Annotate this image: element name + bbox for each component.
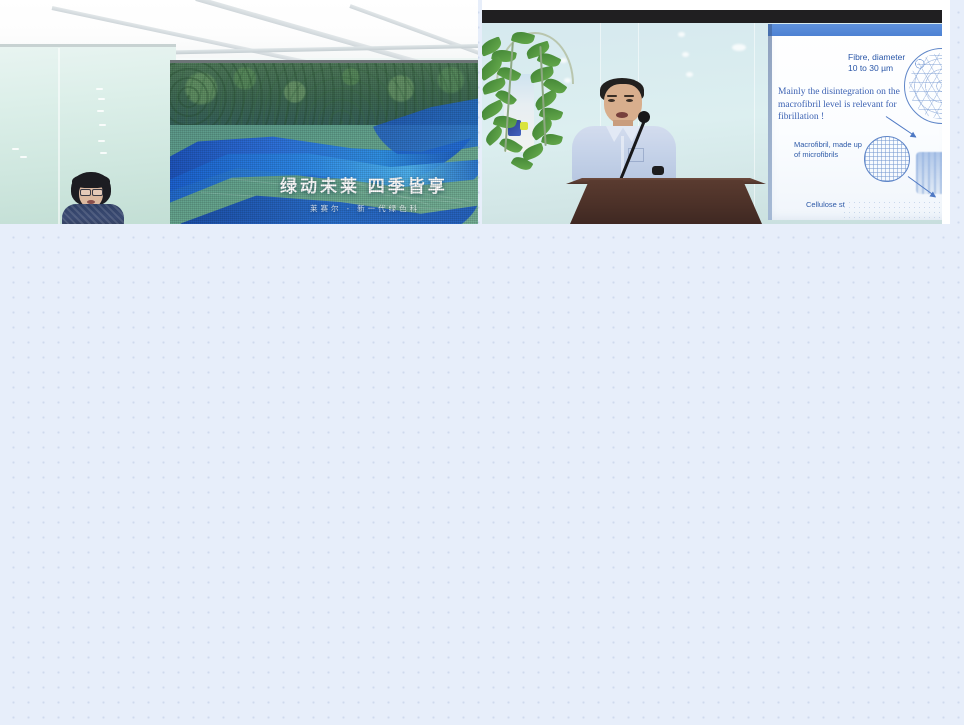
photo-left[interactable]: 绿动未莱 四季皆享 莱赛尔 - 新一代绿色科 (0, 0, 478, 224)
photo-right[interactable]: Fibre, diameter 10 to 30 µm Mainly the d… (482, 0, 950, 224)
ceiling-light (682, 52, 689, 57)
wall-highlight (97, 110, 104, 112)
slide-bottom-overlay (842, 200, 950, 220)
wall-seam (754, 23, 755, 224)
eyebrow (624, 95, 634, 97)
wall-highlight (98, 140, 105, 142)
wristwatch (652, 166, 664, 175)
face (604, 84, 642, 124)
torso (62, 204, 124, 224)
wall-highlight (20, 156, 27, 158)
podium (570, 180, 762, 224)
microphone-icon (638, 111, 650, 123)
wall-highlight (12, 148, 19, 150)
photo-gallery-strip: 绿动未莱 四季皆享 莱赛尔 - 新一代绿色科 (0, 0, 964, 224)
mouth (616, 112, 628, 118)
eye (608, 99, 615, 102)
page-background: 绿动未莱 四季皆享 莱赛尔 - 新一代绿色科 (0, 0, 964, 725)
slide-label-fibre: Fibre, diameter 10 to 30 µm (848, 52, 928, 74)
ceiling-light (686, 72, 693, 77)
macrofibril-diagram (864, 136, 910, 182)
led-screen-headline: 绿动未莱 四季皆享 (280, 172, 448, 197)
wall-highlight (98, 98, 105, 100)
wall-reflection (732, 44, 746, 51)
slide-body-text: Mainly the disintegration on the macrofi… (778, 86, 906, 124)
wall-highlight (100, 152, 107, 154)
led-screen[interactable]: 绿动未莱 四季皆享 莱赛尔 - 新一代绿色科 (170, 60, 478, 224)
slide-header-band (768, 24, 950, 36)
wall-highlight (99, 124, 106, 126)
lecture-room-scene: Fibre, diameter 10 to 30 µm Mainly the d… (482, 0, 950, 224)
ceiling-light (678, 32, 685, 37)
exhibition-hall-scene: 绿动未莱 四季皆享 莱赛尔 - 新一代绿色科 (0, 0, 478, 224)
female-speaker (60, 172, 134, 224)
led-screen-subline: 莱赛尔 - 新一代绿色科 (310, 203, 420, 214)
fringe (72, 174, 110, 188)
slide-label-macrofibril: Macrofibril, made up of microfibrils (794, 140, 864, 159)
poster-badge (520, 122, 528, 130)
eyebrow (607, 95, 617, 97)
male-speaker (566, 78, 716, 182)
projected-slide[interactable]: Fibre, diameter 10 to 30 µm Mainly the d… (768, 24, 950, 220)
photo-right-margin (942, 0, 950, 224)
led-screen-artwork: 绿动未莱 四季皆享 莱赛尔 - 新一代绿色科 (170, 63, 478, 224)
slide-left-edge (768, 24, 772, 220)
wall-highlight (96, 88, 103, 90)
eye (626, 99, 633, 102)
eyeglass-lens (80, 189, 91, 196)
eyeglass-lens (92, 189, 103, 196)
